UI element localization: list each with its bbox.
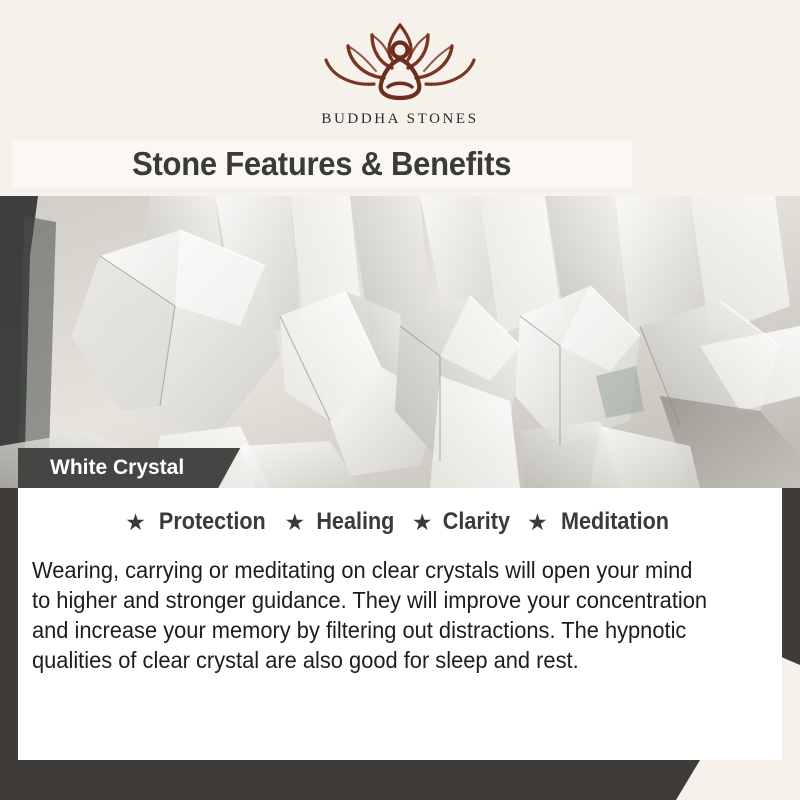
content-section: ★ Protection ★ Healing ★ Clarity ★ Medit…	[18, 488, 782, 760]
benefit-label: Protection	[159, 508, 266, 536]
benefit-item: ★ Meditation	[527, 508, 675, 536]
star-icon: ★	[285, 511, 306, 534]
page-title: Stone Features & Benefits	[132, 145, 511, 183]
infographic-card: BUDDHA STONES Stone Features & Benefits	[0, 0, 800, 800]
benefit-label: Meditation	[561, 508, 669, 536]
star-icon: ★	[527, 511, 548, 534]
photo-caption-bar: White Crystal	[18, 448, 240, 488]
brand-name: BUDDHA STONES	[321, 111, 478, 128]
benefit-item: ★ Healing	[285, 508, 399, 536]
white-crystal-cluster-photo: White Crystal	[0, 196, 800, 488]
benefits-row: ★ Protection ★ Healing ★ Clarity ★ Medit…	[18, 508, 782, 536]
frame-band-bottom	[0, 760, 700, 800]
crystal-illustration	[0, 196, 800, 488]
photo-caption-text: White Crystal	[50, 456, 184, 480]
header-section: BUDDHA STONES Stone Features & Benefits	[0, 0, 800, 196]
star-icon: ★	[412, 511, 433, 534]
description-text: Wearing, carrying or meditating on clear…	[32, 556, 707, 675]
benefit-label: Healing	[316, 508, 394, 536]
benefit-item: ★ Protection	[125, 508, 271, 536]
star-icon: ★	[125, 511, 146, 534]
lotus-meditation-figure-icon	[310, 18, 490, 106]
brand-logo: BUDDHA STONES	[0, 18, 800, 128]
benefit-item: ★ Clarity	[412, 508, 514, 536]
benefit-label: Clarity	[443, 508, 510, 536]
title-strip: Stone Features & Benefits	[12, 140, 632, 188]
